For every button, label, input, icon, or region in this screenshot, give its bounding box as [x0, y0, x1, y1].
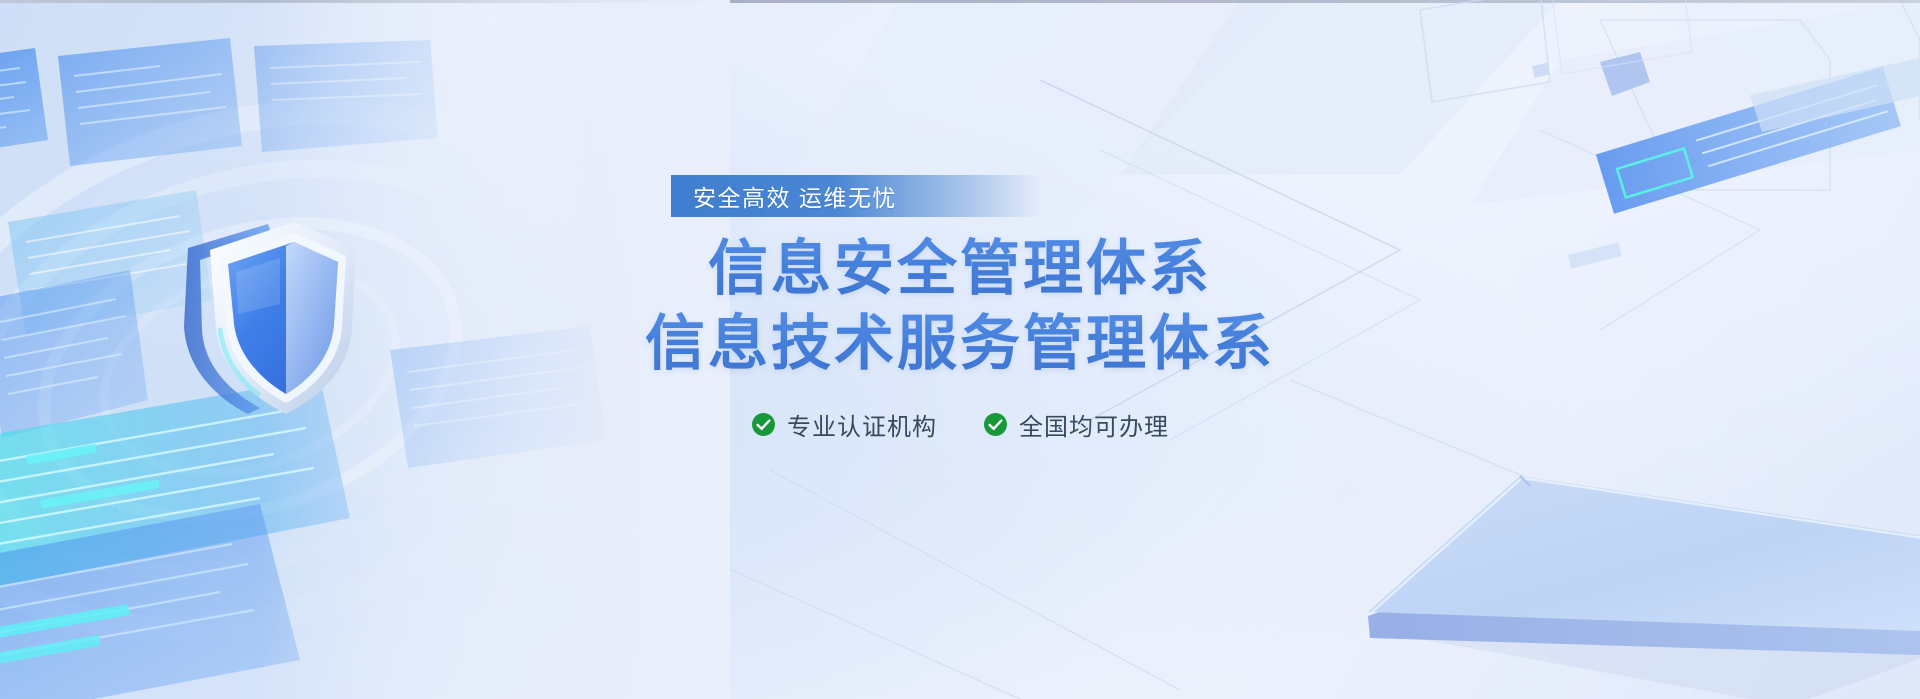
- feature-item-1: 全国均可办理: [983, 407, 1169, 442]
- feature-item-0: 专业认证机构: [751, 407, 937, 442]
- promo-banner: 安全高效 运维无忧 信息安全管理体系 信息技术服务管理体系 专业认证机构: [0, 0, 1920, 699]
- page-title: 信息安全管理体系 信息技术服务管理体系: [645, 235, 1275, 377]
- feature-list: 专业认证机构 全国均可办理: [751, 407, 1169, 442]
- check-circle-glyph: [983, 412, 1008, 437]
- eyebrow-badge-row: 安全高效 运维无忧: [671, 175, 1311, 217]
- check-circle-icon: [983, 412, 1008, 437]
- headline-line-1: 信息安全管理体系: [645, 235, 1275, 302]
- eyebrow-badge: 安全高效 运维无忧: [671, 175, 1041, 217]
- eyebrow-badge-text: 安全高效 运维无忧: [693, 179, 897, 213]
- headline-line-2: 信息技术服务管理体系: [645, 310, 1275, 377]
- feature-label-0: 专业认证机构: [787, 407, 937, 442]
- feature-label-1: 全国均可办理: [1019, 407, 1169, 442]
- check-circle-icon: [751, 412, 776, 437]
- check-circle-glyph: [751, 412, 776, 437]
- banner-content: 安全高效 运维无忧 信息安全管理体系 信息技术服务管理体系 专业认证机构: [0, 0, 1920, 699]
